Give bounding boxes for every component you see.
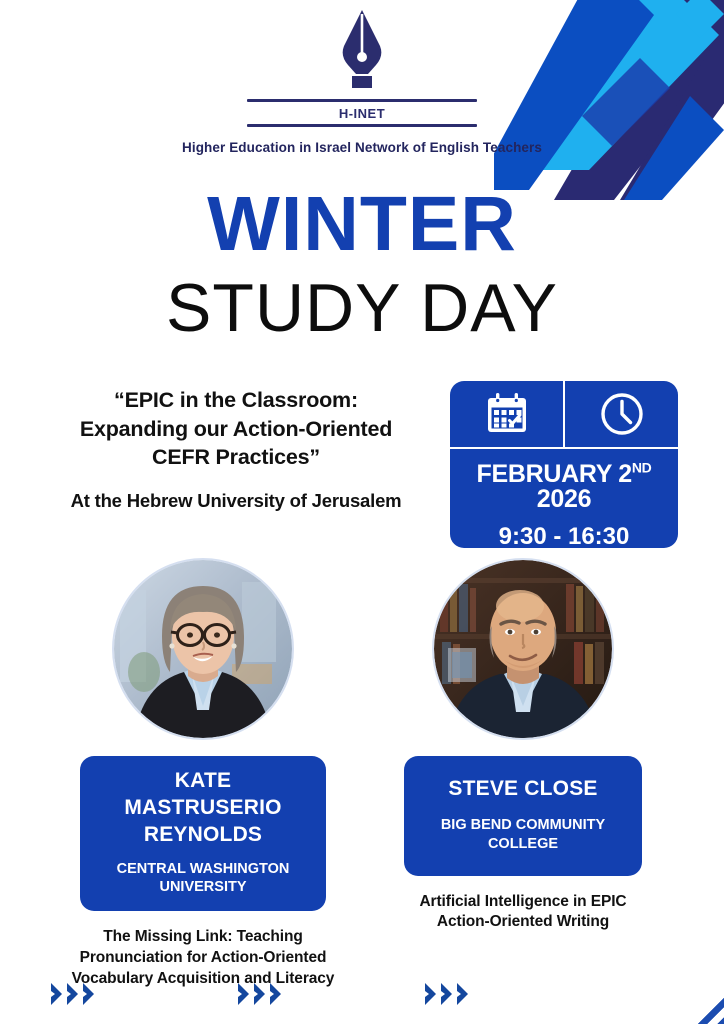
event-date: FEBRUARY 2ND 2026 (450, 462, 678, 512)
chevron-right-icon (269, 982, 283, 1006)
speaker-2-name: STEVE CLOSE (414, 776, 632, 803)
event-venue: At the Hebrew University of Jerusalem (36, 490, 436, 512)
theme-line-3: CEFR Practices” (36, 443, 436, 472)
chevron-group-1 (50, 982, 96, 1006)
poster-canvas: H-INET Higher Education in Israel Networ… (0, 0, 724, 1024)
clock-icon (599, 391, 645, 437)
speaker-2-talk-title: Artificial Intelligence in EPIC Action-O… (358, 892, 688, 934)
fountain-pen-nib-icon (328, 8, 396, 96)
speaker-1-name-line-2: REYNOLDS (94, 822, 312, 849)
event-time-range: 9:30 - 16:30 (450, 525, 678, 548)
chevron-right-icon (50, 982, 64, 1006)
portrait-woman-glasses-photo (114, 560, 292, 738)
chevron-right-icon (66, 982, 80, 1006)
brand-rule-bottom (247, 124, 477, 127)
date-time-text: FEBRUARY 2ND 2026 9:30 - 16:30 (450, 449, 678, 548)
speaker-2-name-card: STEVE CLOSE BIG BEND COMMUNITY COLLEGE (404, 756, 642, 876)
event-theme-block: “EPIC in the Classroom: Expanding our Ac… (36, 386, 436, 512)
theme-line-1: “EPIC in the Classroom: (36, 386, 436, 415)
brand-abbreviation: H-INET (0, 102, 724, 124)
speaker-1-portrait (112, 558, 294, 740)
speaker-2-affiliation: BIG BEND COMMUNITY COLLEGE (414, 816, 632, 854)
event-year: 2026 (537, 485, 591, 513)
chevron-right-icon (253, 982, 267, 1006)
speaker-1-affiliation: CENTRAL WASHINGTON UNIVERSITY (94, 860, 312, 898)
speaker-1-name-card: KATE MASTRUSERIO REYNOLDS CENTRAL WASHIN… (80, 756, 326, 911)
bottom-right-stripes-decoration (634, 946, 724, 1024)
chevron-right-icon (237, 982, 251, 1006)
theme-line-2: Expanding our Action-Oriented (36, 415, 436, 444)
date-ordinal-suffix: ND (632, 460, 652, 476)
speaker-1-affiliation-line-1: CENTRAL WASHINGTON (94, 860, 312, 879)
speaker-1-affiliation-line-2: UNIVERSITY (94, 878, 312, 897)
date-time-card: FEBRUARY 2ND 2026 9:30 - 16:30 (450, 381, 678, 548)
chevron-right-icon (456, 982, 470, 1006)
chevron-right-icon (424, 982, 438, 1006)
speaker-1-name-line-1: KATE MASTRUSERIO (94, 768, 312, 822)
calendar-icon-cell (450, 381, 565, 447)
speaker-2-affiliation-line-1: BIG BEND COMMUNITY COLLEGE (414, 816, 632, 854)
speaker-card-2: STEVE CLOSE BIG BEND COMMUNITY COLLEGE A… (358, 558, 688, 933)
diagonal-stripes (634, 946, 724, 1024)
speaker-2-portrait (432, 558, 614, 740)
speaker-1-name: KATE MASTRUSERIO REYNOLDS (94, 768, 312, 849)
brand-logo-block: H-INET Higher Education in Israel Networ… (0, 8, 724, 155)
brand-full-name: Higher Education in Israel Network of En… (0, 140, 724, 155)
chevron-right-icon (82, 982, 96, 1006)
calendar-icon (484, 392, 530, 436)
speaker-2-talk-line-1: Artificial Intelligence in EPIC (358, 892, 688, 913)
bottom-chevron-decoration (50, 982, 470, 1006)
chevron-group-3 (424, 982, 470, 1006)
chevron-group-2 (237, 982, 283, 1006)
speaker-card-1: KATE MASTRUSERIO REYNOLDS CENTRAL WASHIN… (38, 558, 368, 990)
chevron-right-icon (440, 982, 454, 1006)
headline-study-day: STUDY DAY (0, 274, 724, 342)
date-time-icon-row (450, 381, 678, 447)
headline-winter: WINTER (0, 186, 724, 263)
speaker-1-talk-title: The Missing Link: Teaching Pronunciation… (38, 927, 368, 990)
speaker-1-talk-line-1: The Missing Link: Teaching (38, 927, 368, 948)
speaker-1-talk-line-2: Pronunciation for Action-Oriented (38, 948, 368, 969)
speaker-2-talk-line-2: Action-Oriented Writing (358, 912, 688, 933)
clock-icon-cell (565, 381, 678, 447)
event-theme-title: “EPIC in the Classroom: Expanding our Ac… (36, 386, 436, 472)
event-month-day: FEBRUARY 2 (477, 460, 632, 488)
speaker-2-name-line-1: STEVE CLOSE (414, 776, 632, 803)
portrait-man-bookshelf-photo (434, 560, 612, 738)
